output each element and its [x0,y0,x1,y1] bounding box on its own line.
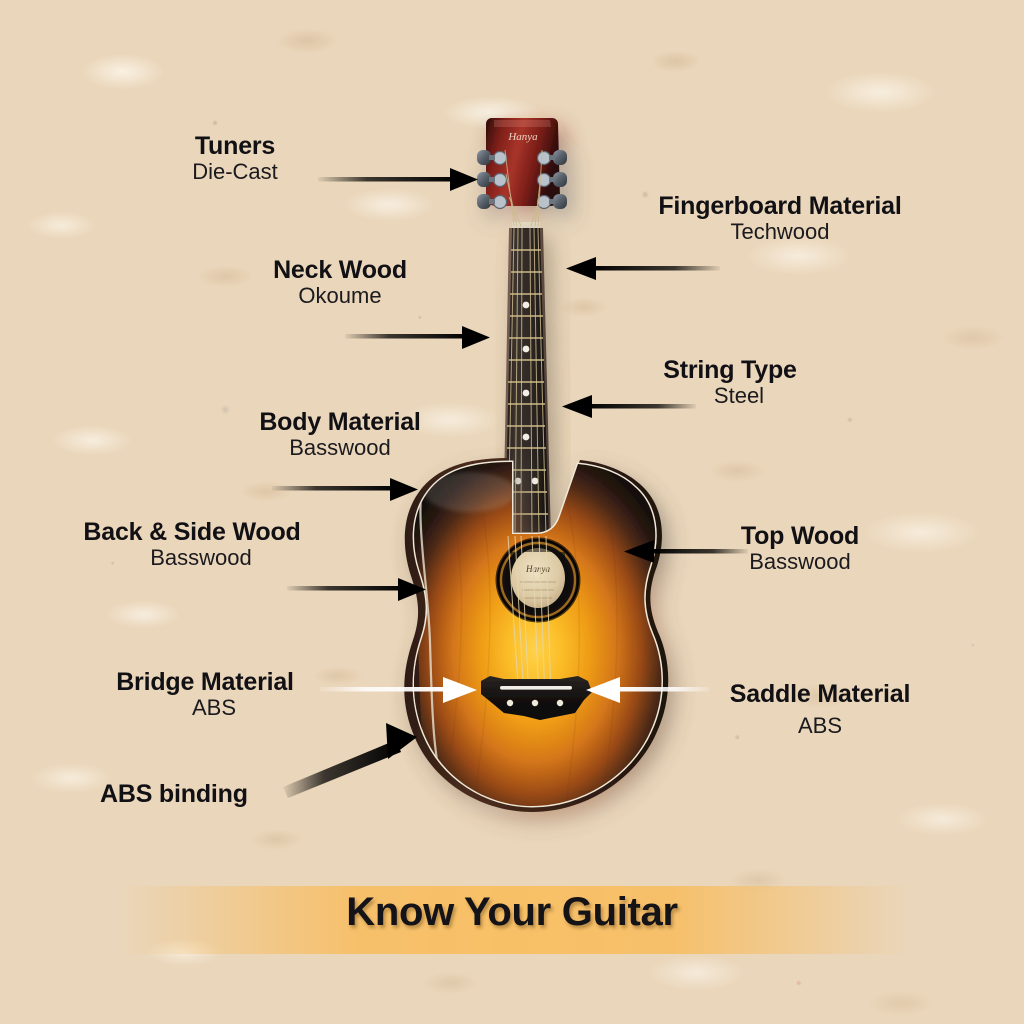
callout-saddle-material: Saddle Material ABS [700,680,940,739]
callout-back-and-side-wood-sub: Basswood [62,546,322,571]
callout-bridge-material-sub: ABS [90,696,320,721]
callout-string-type-title: String Type [600,356,860,384]
callout-top-wood: Top Wood Basswood [690,522,910,575]
callout-bridge-material: Bridge Material ABS [90,668,320,721]
callout-fingerboard-material-sub: Techwood [600,220,960,245]
arrow-saddle-material [586,677,710,703]
callout-body-material-title: Body Material [220,408,460,436]
callout-bridge-material-title: Bridge Material [90,668,320,696]
callout-abs-binding-title: ABS binding [100,780,360,808]
callout-saddle-material-title: Saddle Material [700,680,940,708]
callout-tuners-sub: Die-Cast [150,160,320,185]
arrow-fingerboard-material [566,257,720,280]
arrow-bridge-material [320,677,477,703]
arrow-back-side-wood [287,578,426,601]
callout-neck-wood-title: Neck Wood [230,256,450,284]
callout-string-type-sub: Steel [600,384,860,409]
page-title: Know Your Guitar [0,890,1024,935]
arrow-tuners [318,168,478,191]
callout-body-material: Body Material Basswood [220,408,460,461]
callout-back-and-side-wood-title: Back & Side Wood [62,518,322,546]
callout-neck-wood: Neck Wood Okoume [230,256,450,309]
callout-saddle-material-sub: ABS [700,714,940,739]
callout-top-wood-title: Top Wood [690,522,910,550]
callout-fingerboard-material: Fingerboard Material Techwood [600,192,960,245]
callout-back-and-side-wood: Back & Side Wood Basswood [62,518,322,571]
callout-body-material-sub: Basswood [220,436,460,461]
callout-string-type: String Type Steel [600,356,860,409]
callout-abs-binding: ABS binding [100,780,360,808]
callout-tuners: Tuners Die-Cast [150,132,320,185]
arrow-neck-wood [345,326,490,349]
callout-tuners-title: Tuners [150,132,320,160]
infographic-canvas: Hanya [0,0,1024,1024]
callout-top-wood-sub: Basswood [690,550,910,575]
arrow-body-material [272,478,418,501]
callout-fingerboard-material-title: Fingerboard Material [600,192,960,220]
callout-neck-wood-sub: Okoume [230,284,450,309]
